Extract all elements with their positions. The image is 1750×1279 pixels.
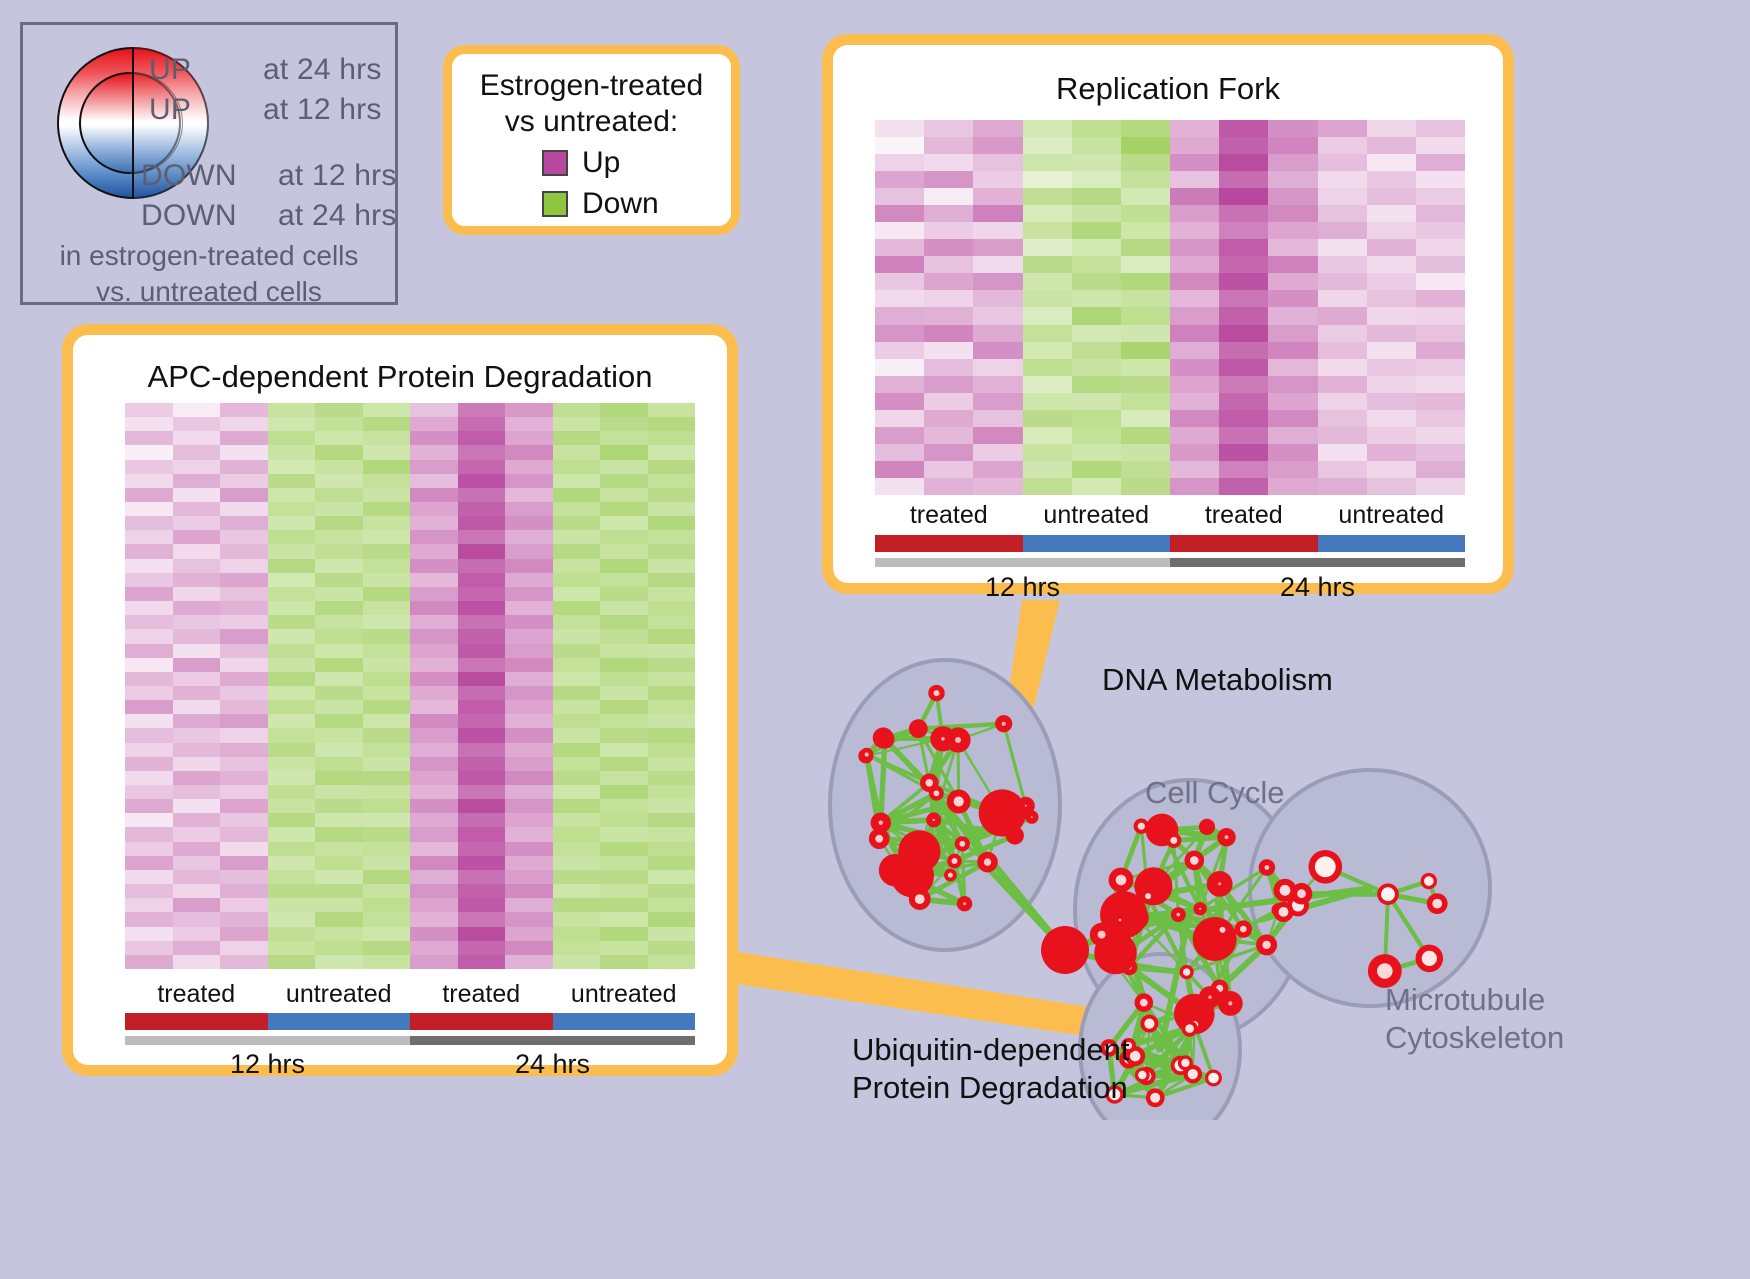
- network-node-center: [933, 819, 935, 821]
- network-node-center: [1265, 865, 1270, 870]
- network-node-center: [1381, 887, 1395, 901]
- network-node: [909, 719, 928, 738]
- network-node-center: [1228, 1001, 1232, 1005]
- network-node-center: [1119, 919, 1122, 922]
- network-node-center: [1116, 875, 1127, 886]
- network-node-center: [1025, 805, 1027, 807]
- network-node-center: [1218, 882, 1221, 885]
- network-node-center: [1183, 968, 1190, 975]
- network-node-center: [1098, 931, 1106, 939]
- network-node-center: [1177, 913, 1181, 917]
- network-node-center: [1181, 1059, 1189, 1067]
- network-node-center: [934, 790, 940, 796]
- network-node-center: [934, 690, 940, 696]
- network-node-center: [1002, 722, 1006, 726]
- network-node-center: [1145, 893, 1151, 899]
- network-node-center: [1225, 835, 1229, 839]
- network-node-center: [1144, 1019, 1154, 1029]
- network-node: [1199, 819, 1215, 835]
- network-node-center: [1185, 1024, 1194, 1033]
- network-node-center: [1170, 837, 1177, 844]
- network-node-center: [959, 841, 965, 847]
- network-node-center: [1208, 996, 1211, 999]
- network-node-center: [955, 737, 961, 743]
- network-node-center: [1138, 1071, 1146, 1079]
- network-node-center: [1220, 927, 1226, 933]
- network-node: [1041, 926, 1089, 974]
- network-node-center: [879, 821, 883, 825]
- network-node-center: [926, 779, 934, 787]
- network-node-center: [1138, 823, 1145, 830]
- network-node-center: [1315, 856, 1336, 877]
- network-node-center: [948, 873, 953, 878]
- network-node-center: [915, 894, 925, 904]
- network-node-center: [954, 796, 964, 806]
- network-node-center: [963, 902, 966, 905]
- network-node-center: [1424, 876, 1434, 886]
- network-node-center: [952, 858, 958, 864]
- cluster-label-microtubule-line1: Microtubule: [1385, 982, 1545, 1018]
- network-node: [1006, 826, 1024, 844]
- network-node-center: [875, 835, 883, 843]
- network-node-center: [1422, 951, 1437, 966]
- network-node: [898, 830, 940, 872]
- network-node-center: [941, 737, 945, 741]
- network-node-center: [865, 753, 869, 757]
- network-node-center: [1208, 1073, 1219, 1084]
- cluster-label-dna-metabolism: DNA Metabolism: [1102, 662, 1333, 698]
- cluster-label-cell-cycle: Cell Cycle: [1145, 775, 1285, 811]
- network-diagram: DNA Metabolism Cell Cycle Microtubule Cy…: [790, 620, 1560, 1120]
- network-node-center: [1280, 885, 1291, 896]
- network-node-center: [1279, 907, 1289, 917]
- network-node-center: [1031, 816, 1033, 818]
- network-node-center: [1240, 926, 1247, 933]
- network-node-center: [1150, 1093, 1160, 1103]
- network-node-center: [1262, 941, 1270, 949]
- network-node-center: [1377, 963, 1393, 979]
- network-node: [1193, 917, 1237, 961]
- cluster-label-microtubule-line2: Cytoskeleton: [1385, 1020, 1564, 1056]
- cluster-label-ubiquitin-line2: Protein Degradation: [852, 1070, 1128, 1106]
- network-node-center: [1190, 856, 1199, 865]
- network-node-center: [1199, 908, 1201, 910]
- network-node-center: [1140, 999, 1148, 1007]
- network-node: [873, 727, 894, 748]
- network-node-center: [1297, 889, 1306, 898]
- network-node-center: [1188, 1069, 1198, 1079]
- network-node-center: [1432, 899, 1442, 909]
- network-node-center: [984, 858, 991, 865]
- cluster-label-ubiquitin-line1: Ubiquitin-dependent: [852, 1032, 1130, 1068]
